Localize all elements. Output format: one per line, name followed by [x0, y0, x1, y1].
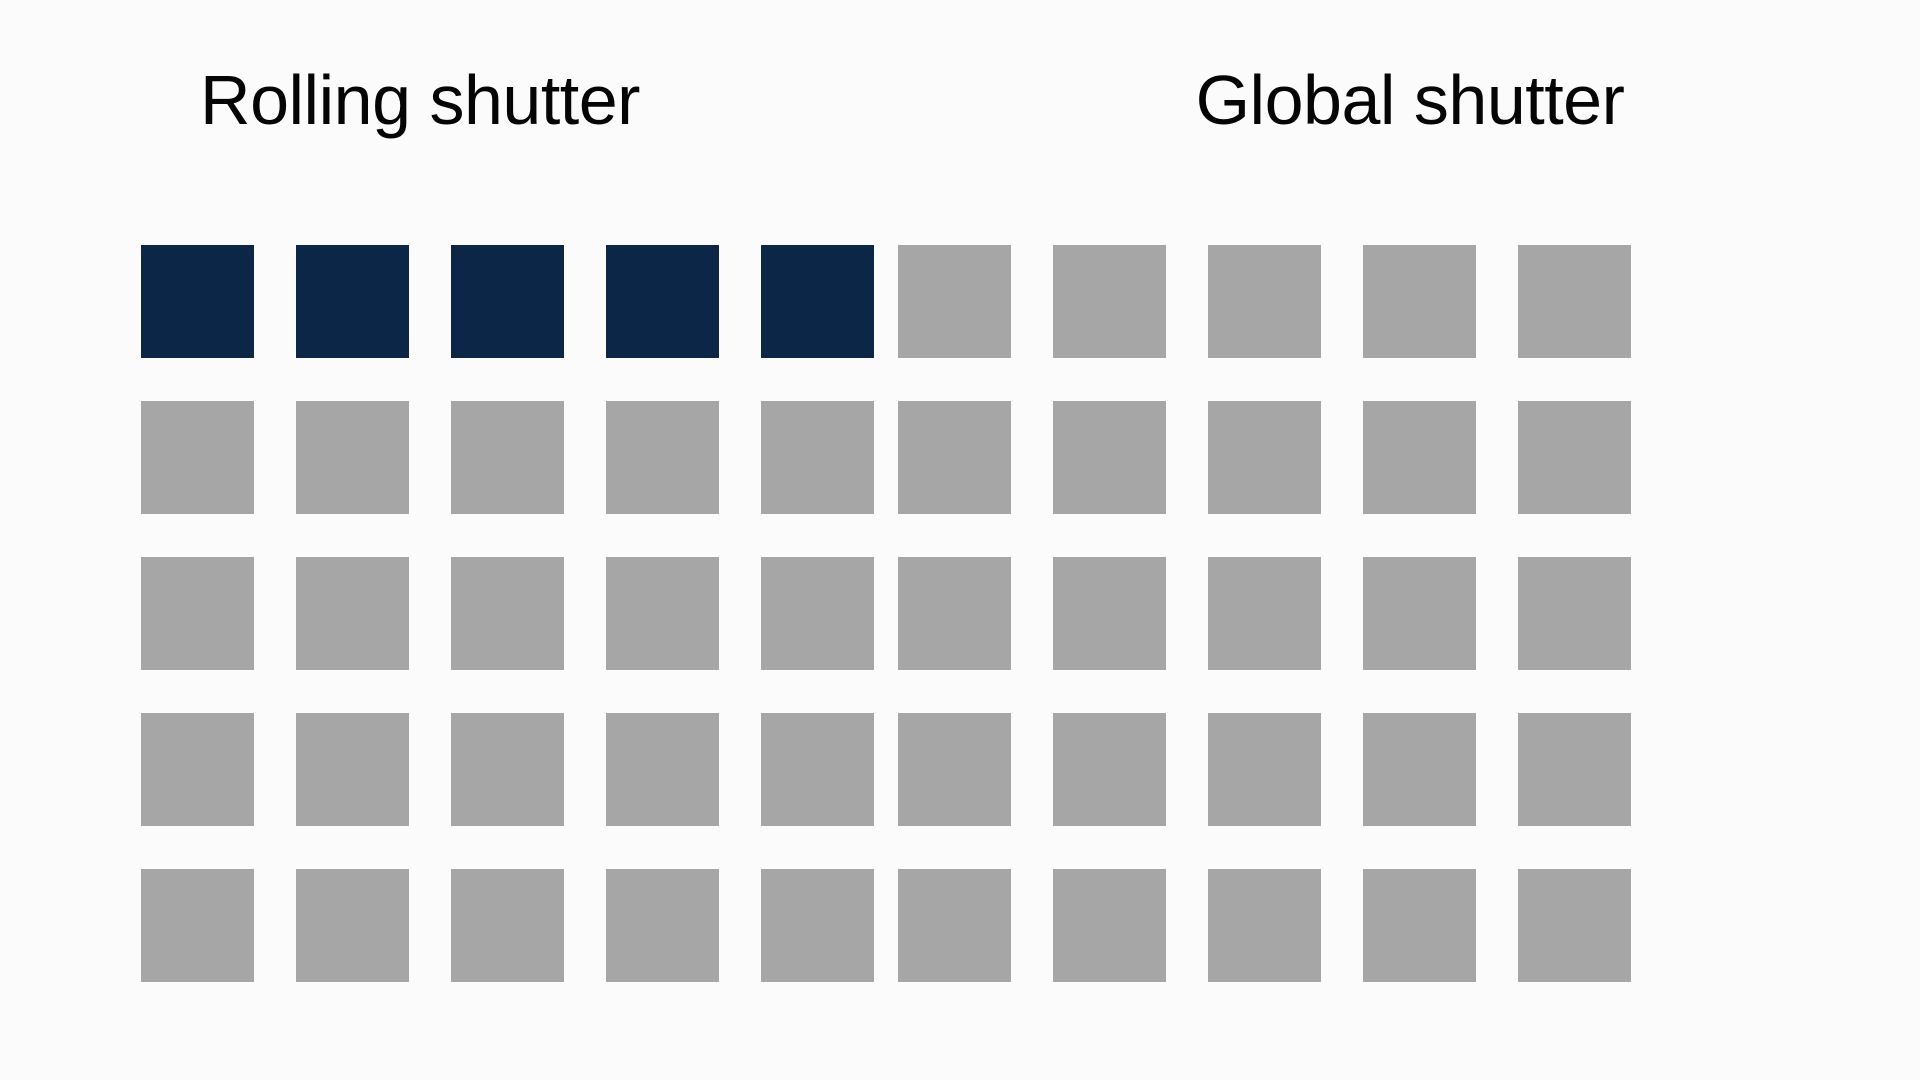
- sensor-pixel-r5-c4: [606, 869, 719, 982]
- panel-title-global-shutter: Global shutter: [880, 58, 1920, 142]
- sensor-pixel-r4-c5: [1518, 713, 1631, 826]
- sensor-pixel-r1-c2: [1053, 245, 1166, 358]
- sensor-pixel-r2-c1: [898, 401, 1011, 514]
- sensor-pixel-r4-c1: [898, 713, 1011, 826]
- sensor-pixel-r4-c4: [1363, 713, 1476, 826]
- sensor-pixel-r4-c3: [451, 713, 564, 826]
- panel-global-shutter: Global shutter: [880, 0, 1920, 1080]
- sensor-pixel-r5-c3: [451, 869, 564, 982]
- sensor-pixel-r2-c2: [296, 401, 409, 514]
- sensor-pixel-grid-rolling-shutter: [141, 245, 874, 982]
- sensor-pixel-r3-c4: [1363, 557, 1476, 670]
- sensor-pixel-r2-c1: [141, 401, 254, 514]
- sensor-pixel-r4-c1: [141, 713, 254, 826]
- sensor-pixel-r1-c3: [451, 245, 564, 358]
- sensor-pixel-r1-c1: [898, 245, 1011, 358]
- sensor-pixel-r5-c2: [1053, 869, 1166, 982]
- sensor-pixel-r2-c5: [761, 401, 874, 514]
- sensor-pixel-r1-c3: [1208, 245, 1321, 358]
- sensor-pixel-r2-c3: [451, 401, 564, 514]
- sensor-pixel-r4-c4: [606, 713, 719, 826]
- sensor-pixel-r1-c4: [606, 245, 719, 358]
- sensor-pixel-r2-c3: [1208, 401, 1321, 514]
- sensor-pixel-r4-c5: [761, 713, 874, 826]
- sensor-pixel-r3-c5: [1518, 557, 1631, 670]
- sensor-pixel-r3-c2: [1053, 557, 1166, 670]
- sensor-pixel-r5-c2: [296, 869, 409, 982]
- sensor-pixel-r1-c5: [761, 245, 874, 358]
- sensor-pixel-r4-c2: [296, 713, 409, 826]
- sensor-pixel-r3-c1: [141, 557, 254, 670]
- sensor-pixel-r2-c2: [1053, 401, 1166, 514]
- sensor-pixel-r5-c1: [141, 869, 254, 982]
- sensor-pixel-r3-c3: [451, 557, 564, 670]
- sensor-pixel-r4-c2: [1053, 713, 1166, 826]
- sensor-pixel-r2-c5: [1518, 401, 1631, 514]
- sensor-pixel-r3-c1: [898, 557, 1011, 670]
- sensor-pixel-r2-c4: [606, 401, 719, 514]
- sensor-pixel-r1-c2: [296, 245, 409, 358]
- sensor-pixel-r2-c4: [1363, 401, 1476, 514]
- sensor-pixel-r3-c4: [606, 557, 719, 670]
- sensor-pixel-r3-c3: [1208, 557, 1321, 670]
- sensor-pixel-r4-c3: [1208, 713, 1321, 826]
- sensor-pixel-r5-c4: [1363, 869, 1476, 982]
- panel-rolling-shutter: Rolling shutter: [0, 0, 880, 1080]
- sensor-pixel-r1-c1: [141, 245, 254, 358]
- sensor-pixel-r5-c5: [1518, 869, 1631, 982]
- shutter-comparison-diagram: Rolling shutter Global shutter: [0, 0, 1920, 1080]
- sensor-pixel-grid-global-shutter: [898, 245, 1631, 982]
- sensor-pixel-r3-c2: [296, 557, 409, 670]
- sensor-pixel-r3-c5: [761, 557, 874, 670]
- sensor-pixel-r5-c5: [761, 869, 874, 982]
- sensor-pixel-r5-c3: [1208, 869, 1321, 982]
- sensor-pixel-r1-c5: [1518, 245, 1631, 358]
- sensor-pixel-r1-c4: [1363, 245, 1476, 358]
- sensor-pixel-r5-c1: [898, 869, 1011, 982]
- panel-title-rolling-shutter: Rolling shutter: [0, 58, 840, 142]
